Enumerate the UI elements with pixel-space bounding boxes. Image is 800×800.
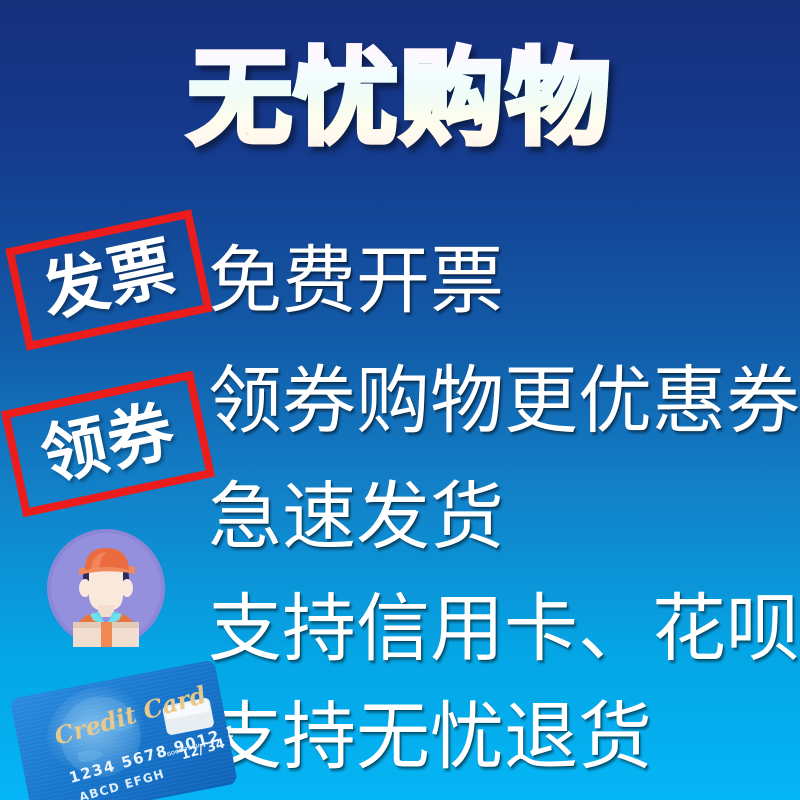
delivery-person-icon [47, 529, 165, 647]
feature-line-coupon-discount: 领券购物更优惠券 [208, 364, 800, 438]
feature-line-free-invoice: 免费开票 [208, 244, 504, 318]
feature-line-fast-shipping: 急速发货 [208, 480, 504, 554]
credit-card-icon: Credit Card 1234 5678 9012 3456 ABCD EFG… [7, 657, 242, 800]
stamp-badge-invoice-label: 发票 [37, 234, 182, 326]
poster-title-wrap: 无忧购物 [0, 42, 800, 154]
stamp-badge-invoice: 发票 [5, 209, 212, 350]
stamp-badge-coupon-label: 领券 [36, 398, 181, 490]
stamp-badge-coupon: 领券 [1, 371, 215, 517]
promo-poster: 无忧购物 免费开票 领券购物更优惠券 急速发货 支持信用卡、花呗 支持无忧退货 … [0, 0, 800, 800]
feature-line-payment-methods: 支持信用卡、花呗 [208, 592, 800, 666]
page-title: 无忧购物 [188, 42, 612, 154]
feature-line-worry-free-returns: 支持无忧退货 [208, 700, 652, 774]
